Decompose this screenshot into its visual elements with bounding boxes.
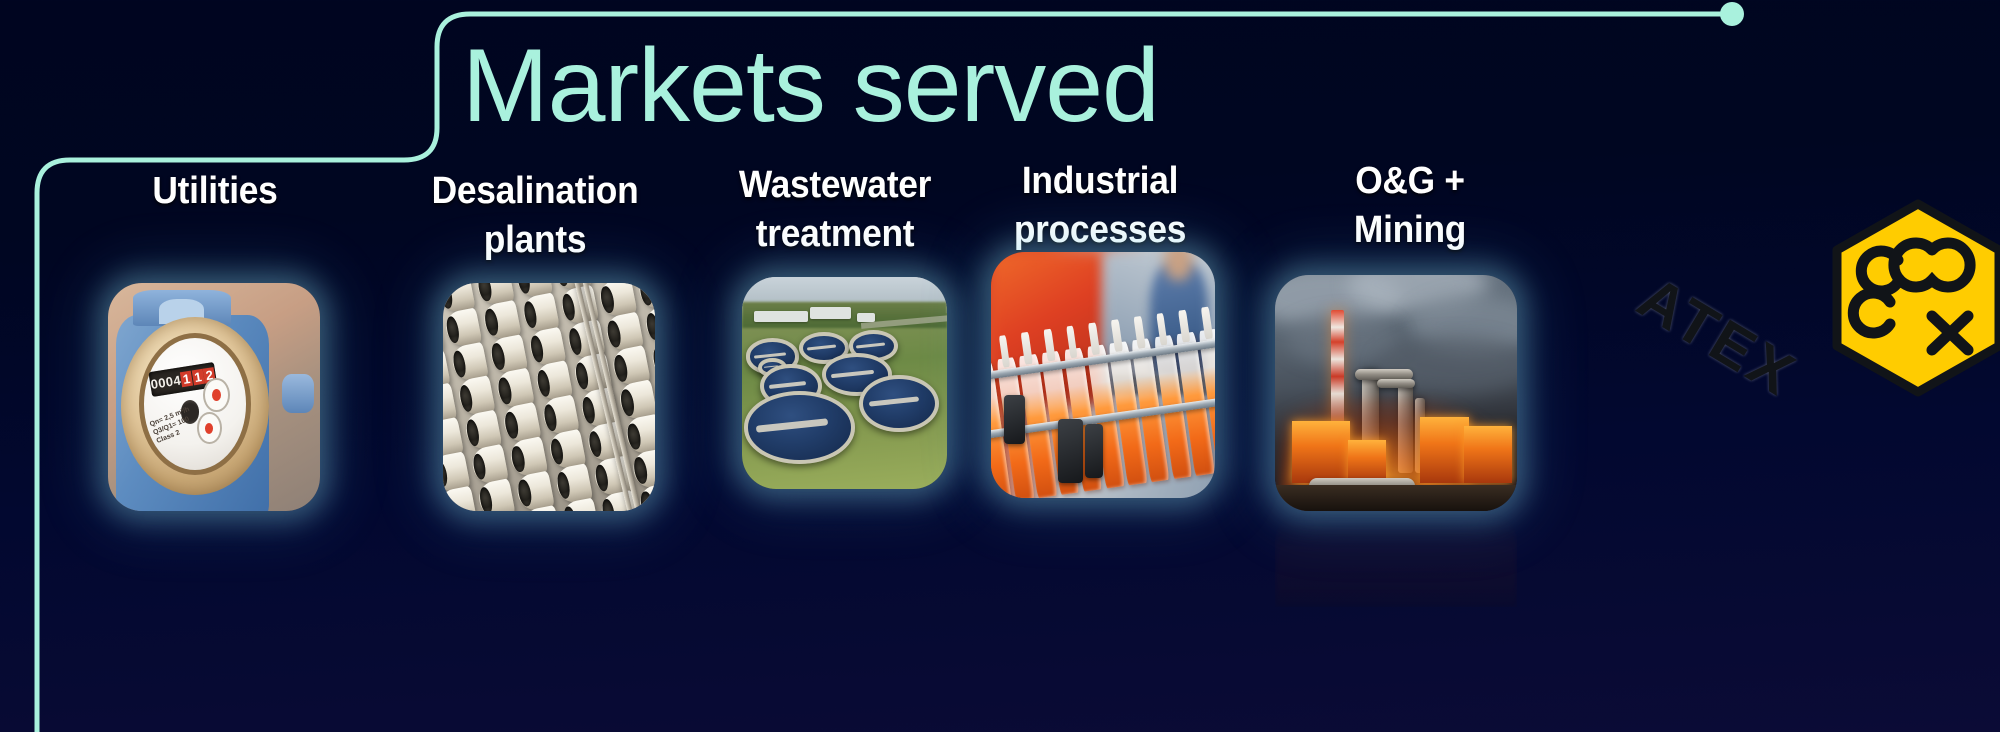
- slide-root: Markets served Utilities 0 0: [0, 0, 2000, 732]
- ro-vessel: [624, 414, 655, 455]
- market-label-line2: plants: [484, 219, 586, 261]
- market-label-line1: Desalination: [432, 170, 639, 212]
- wastewater-plant-aerial-photo: [742, 277, 947, 489]
- market-label: Desalination plants: [400, 167, 670, 265]
- dot-endpoint: [1720, 2, 1744, 26]
- market-label-line1: O&G +: [1355, 160, 1465, 202]
- market-thumbnail[interactable]: [443, 283, 655, 511]
- ro-vessel: [643, 303, 655, 344]
- market-thumbnail[interactable]: [742, 277, 947, 489]
- market-thumbnail[interactable]: [1275, 275, 1517, 511]
- market-label: Wastewater treatment: [700, 161, 970, 259]
- bottling-line-photo: [991, 252, 1215, 498]
- market-label: Industrial processes: [965, 157, 1235, 255]
- thumbnail-reflection: [1275, 511, 1517, 607]
- ro-vessel: [636, 283, 655, 310]
- reverse-osmosis-vessels-photo: [443, 283, 655, 511]
- market-label-line2: Mining: [1354, 209, 1466, 251]
- market-label-line2: processes: [1014, 209, 1186, 251]
- ro-vessel: [443, 486, 477, 511]
- market-thumbnail[interactable]: [991, 252, 1215, 498]
- ro-vessel: [649, 338, 655, 379]
- refinery-dusk-photo: [1275, 275, 1517, 511]
- market-label: O&G + Mining: [1275, 157, 1545, 255]
- market-label-line2: treatment: [756, 213, 915, 255]
- market-thumbnail[interactable]: 0 0 0 4 1 1 2: [108, 283, 320, 511]
- meter-spec-text: Qn= 2,5 m³/h Q3/Q1= 100 Class 2: [148, 405, 197, 446]
- ro-vessel: [514, 471, 554, 511]
- ro-vessel: [476, 478, 516, 511]
- markets-row: Utilities 0 0 0 4 1: [0, 155, 2000, 675]
- market-label-line1: Industrial: [1022, 160, 1178, 202]
- market-label-line1: Utilities: [152, 170, 277, 212]
- page-title: Markets served: [462, 34, 1159, 138]
- water-meter-photo: 0 0 0 4 1 1 2: [108, 283, 320, 511]
- market-label-line1: Wastewater: [739, 164, 931, 206]
- market-label: Utilities: [80, 167, 350, 216]
